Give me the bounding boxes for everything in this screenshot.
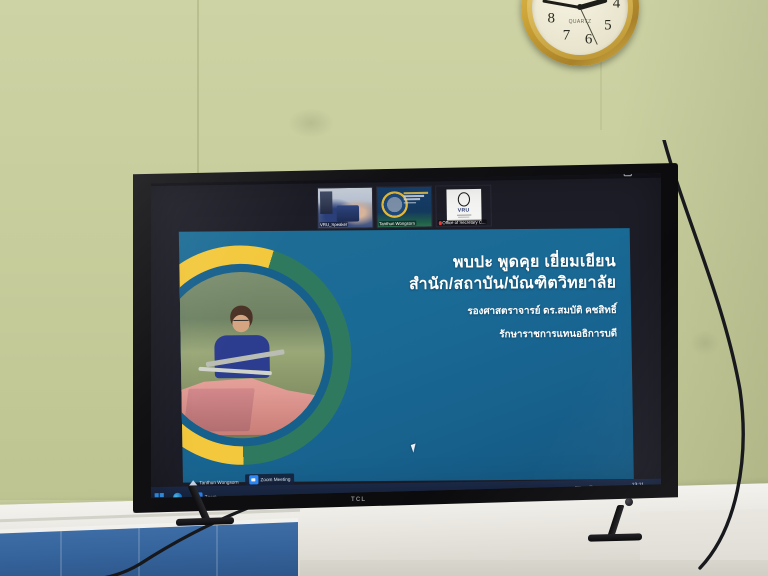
zoom-stage: VRU_Speaker Tanthun Wongsorn (151, 178, 661, 487)
participant-tile[interactable]: Tanthun Wongsorn (375, 186, 432, 229)
wall-smudge (288, 108, 334, 138)
participant-name: Office of Secretary C... (437, 219, 486, 225)
taskbar-overlay-label: Tanthun Wongsorn (189, 480, 239, 486)
floor-area (300, 560, 768, 576)
eyeglasses-icon (233, 320, 248, 325)
participant-tile[interactable]: VRU Office of Secretary C... (435, 185, 492, 228)
slide-speaker-name: รองศาสตราจารย์ ดร.สมบัติ คชสิทธิ์ (357, 303, 617, 320)
slide-heading-line2: สำนัก/สถาบัน/บัณฑิตวิทยาลัย (356, 273, 616, 297)
tv-stand-right-foot (588, 533, 642, 541)
clock-number-8: 8 (547, 10, 555, 27)
skirt-pleat (216, 525, 218, 576)
shared-slide: พบปะ พูดคุย เยี่ยมเยียน สำนัก/สถาบัน/บัณ… (179, 228, 634, 482)
logo-underline-secondary (458, 217, 469, 218)
slide-speaker-role: รักษาราชการแทนอธิการบดี (357, 327, 617, 344)
mouse-cursor (411, 443, 418, 452)
tv-ir-sensor (625, 498, 633, 506)
tv-brand-logo: TCL (351, 497, 366, 503)
skirt-pleat (60, 531, 62, 576)
tv-screen: Zoom Meeting ✕ VRU_Speaker (151, 172, 661, 500)
slide-text-block: พบปะ พูดคุย เยี่ยมเยียน สำนัก/สถาบัน/บัณ… (356, 251, 618, 344)
tile-text-lines (403, 192, 428, 205)
skirt-pleat (138, 528, 140, 576)
participant-tile[interactable]: VRU_Speaker (316, 187, 373, 230)
clock-center-pin (577, 4, 583, 10)
tractor-blade (183, 388, 255, 432)
logo-ring-icon (457, 192, 469, 206)
muted-mic-icon (438, 221, 441, 225)
clock-number-5: 5 (604, 18, 612, 35)
logo-text: VRU (458, 207, 470, 213)
clock-minute-hand (542, 0, 580, 8)
slide-heading-line1: พบปะ พูดคุย เยี่ยมเยียน (356, 251, 616, 275)
zoom-icon (249, 475, 258, 484)
screen-content: Zoom Meeting ✕ VRU_Speaker (151, 172, 661, 500)
wall-seam (197, 0, 199, 178)
clock-hour-hand (579, 0, 607, 9)
participant-filmstrip: VRU_Speaker Tanthun Wongsorn (151, 182, 661, 235)
participant-name: VRU_Speaker (319, 222, 348, 228)
television: Zoom Meeting ✕ VRU_Speaker (133, 163, 678, 513)
logo-card: VRU (446, 189, 481, 221)
room-scene: 9 8 7 6 5 4 3 QUARTZ (0, 0, 768, 576)
clock-number-7: 7 (563, 27, 571, 44)
wifi-icon (189, 480, 197, 485)
participant-name: Tanthun Wongsorn (378, 221, 416, 227)
taskbar-item-zoom-meeting[interactable]: Zoom Meeting (245, 474, 295, 486)
taskbar-item-label: Zoom Meeting (260, 477, 290, 483)
clock-number-4: 4 (613, 0, 621, 13)
